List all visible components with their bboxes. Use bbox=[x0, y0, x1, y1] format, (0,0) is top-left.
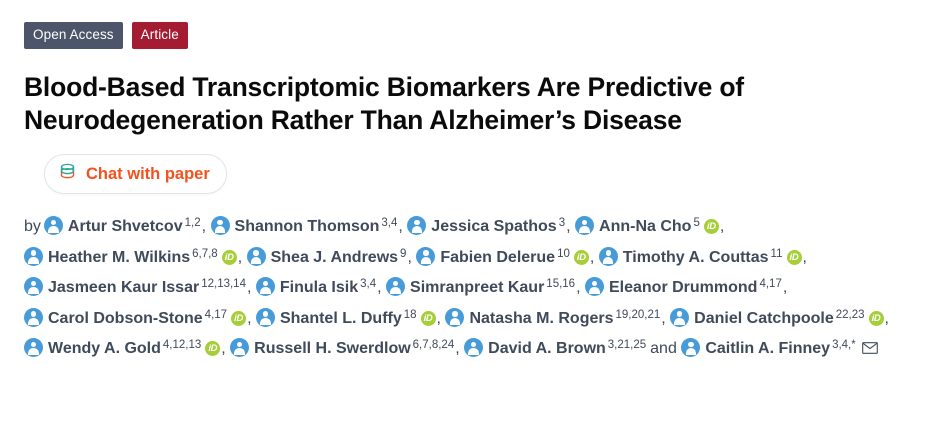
person-icon[interactable] bbox=[24, 338, 43, 357]
orcid-icon[interactable]: iD bbox=[421, 311, 436, 326]
article-header: Open Access Article Blood-Based Transcri… bbox=[0, 0, 940, 442]
author-separator: , bbox=[221, 340, 225, 357]
author-name[interactable]: Fabien Delerue bbox=[440, 249, 555, 266]
author-entry: Eleanor Drummond4,17 bbox=[585, 279, 782, 296]
author-entry: David A. Brown3,21,25 bbox=[464, 340, 646, 357]
author-separator: , bbox=[576, 279, 580, 296]
author-name[interactable]: Shea J. Andrews bbox=[271, 249, 398, 266]
person-icon[interactable] bbox=[670, 308, 689, 327]
author-separator: , bbox=[407, 249, 411, 266]
author-entry: Shea J. Andrews9 bbox=[247, 249, 407, 266]
author-entry: Ann-Na Cho5iD bbox=[575, 218, 719, 235]
author-affiliation[interactable]: 3,4 bbox=[360, 278, 376, 290]
author-separator: , bbox=[455, 340, 459, 357]
person-icon[interactable] bbox=[256, 277, 275, 296]
author-entry: Jessica Spathos3 bbox=[407, 218, 565, 235]
stacked-layers-icon bbox=[58, 162, 77, 186]
author-separator: , bbox=[661, 310, 665, 327]
chat-with-paper-button[interactable]: Chat with paper bbox=[44, 154, 227, 194]
author-entry: Timothy A. Couttas11iD bbox=[599, 249, 802, 266]
author-separator: , bbox=[398, 218, 402, 235]
author-entry: Wendy A. Gold4,12,13iD bbox=[24, 340, 220, 357]
author-name[interactable]: David A. Brown bbox=[488, 340, 606, 357]
author-name[interactable]: Ann-Na Cho bbox=[599, 218, 691, 235]
author-affiliation[interactable]: 10 bbox=[557, 248, 570, 260]
author-name[interactable]: Simranpreet Kaur bbox=[410, 279, 544, 296]
person-icon[interactable] bbox=[24, 308, 43, 327]
person-icon[interactable] bbox=[44, 216, 63, 235]
author-separator: , bbox=[202, 218, 206, 235]
person-icon[interactable] bbox=[256, 308, 275, 327]
author-name[interactable]: Eleanor Drummond bbox=[609, 279, 757, 296]
author-name[interactable]: Heather M. Wilkins bbox=[48, 249, 190, 266]
author-affiliation[interactable]: 4,12,13 bbox=[163, 339, 201, 351]
author-separator: , bbox=[566, 218, 570, 235]
author-entry: Daniel Catchpoole22,23iD bbox=[670, 310, 883, 327]
person-icon[interactable] bbox=[230, 338, 249, 357]
article-badge[interactable]: Article bbox=[132, 22, 188, 49]
author-affiliation[interactable]: 1,2 bbox=[185, 217, 201, 229]
author-separator: , bbox=[238, 249, 242, 266]
author-entry: Heather M. Wilkins6,7,8iD bbox=[24, 249, 237, 266]
author-affiliation[interactable]: 4,17 bbox=[205, 309, 227, 321]
orcid-icon[interactable]: iD bbox=[205, 341, 220, 356]
author-entry: Shantel L. Duffy18iD bbox=[256, 310, 436, 327]
open-access-badge[interactable]: Open Access bbox=[24, 22, 123, 49]
badge-row: Open Access Article bbox=[24, 22, 920, 49]
orcid-icon[interactable]: iD bbox=[222, 250, 237, 265]
author-name[interactable]: Natasha M. Rogers bbox=[469, 310, 613, 327]
author-entry: Fabien Delerue10iD bbox=[416, 249, 589, 266]
author-entry: Natasha M. Rogers19,20,21 bbox=[445, 310, 660, 327]
author-list: byArtur Shvetcov1,2, Shannon Thomson3,4,… bbox=[24, 210, 920, 364]
author-entry: Simranpreet Kaur15,16 bbox=[386, 279, 575, 296]
orcid-icon[interactable]: iD bbox=[574, 250, 589, 265]
author-affiliation[interactable]: 11 bbox=[771, 248, 783, 260]
person-icon[interactable] bbox=[416, 247, 435, 266]
author-name[interactable]: Jasmeen Kaur Issar bbox=[48, 279, 199, 296]
person-icon[interactable] bbox=[585, 277, 604, 296]
author-entry: Finula Isik3,4 bbox=[256, 279, 376, 296]
orcid-icon[interactable]: iD bbox=[231, 311, 246, 326]
page-title: Blood-Based Transcriptomic Biomarkers Ar… bbox=[24, 71, 904, 138]
person-icon[interactable] bbox=[247, 247, 266, 266]
author-separator: , bbox=[437, 310, 441, 327]
author-name[interactable]: Timothy A. Couttas bbox=[623, 249, 769, 266]
author-name[interactable]: Artur Shvetcov bbox=[68, 218, 183, 235]
author-affiliation[interactable]: 22,23 bbox=[836, 309, 865, 321]
person-icon[interactable] bbox=[407, 216, 426, 235]
person-icon[interactable] bbox=[211, 216, 230, 235]
person-icon[interactable] bbox=[24, 247, 43, 266]
author-entry: Russell H. Swerdlow6,7,8,24 bbox=[230, 340, 454, 357]
orcid-icon[interactable]: iD bbox=[704, 219, 719, 234]
author-affiliation[interactable]: 3,21,25 bbox=[608, 339, 646, 351]
author-entry: Carol Dobson-Stone4,17iD bbox=[24, 310, 246, 327]
person-icon[interactable] bbox=[575, 216, 594, 235]
author-entry: Shannon Thomson3,4 bbox=[211, 218, 398, 235]
email-icon[interactable] bbox=[862, 336, 878, 364]
author-separator: , bbox=[247, 279, 251, 296]
by-label: by bbox=[24, 218, 41, 235]
person-icon[interactable] bbox=[464, 338, 483, 357]
person-icon[interactable] bbox=[445, 308, 464, 327]
author-and-label: and bbox=[650, 340, 677, 357]
author-affiliation[interactable]: 4,17 bbox=[759, 278, 781, 290]
author-entry: Jasmeen Kaur Issar12,13,14 bbox=[24, 279, 246, 296]
author-name[interactable]: Wendy A. Gold bbox=[48, 340, 161, 357]
author-entry: Artur Shvetcov1,2 bbox=[44, 218, 201, 235]
author-name[interactable]: Finula Isik bbox=[280, 279, 358, 296]
author-separator: , bbox=[590, 249, 594, 266]
author-name[interactable]: Russell H. Swerdlow bbox=[254, 340, 410, 357]
author-entry: Caitlin A. Finney3,4,* bbox=[681, 340, 877, 357]
author-affiliation[interactable]: 6,7,8,24 bbox=[413, 339, 455, 351]
author-affiliation[interactable]: 3,4 bbox=[381, 217, 397, 229]
author-name[interactable]: Shannon Thomson bbox=[235, 218, 380, 235]
orcid-icon[interactable]: iD bbox=[869, 311, 884, 326]
author-name[interactable]: Daniel Catchpoole bbox=[694, 310, 834, 327]
author-separator: , bbox=[377, 279, 381, 296]
author-affiliation[interactable]: 3 bbox=[559, 217, 565, 229]
author-affiliation[interactable]: 18 bbox=[404, 309, 417, 321]
chat-with-paper-label: Chat with paper bbox=[86, 166, 210, 183]
author-affiliation[interactable]: 12,13,14 bbox=[201, 278, 246, 290]
author-name[interactable]: Jessica Spathos bbox=[431, 218, 556, 235]
person-icon[interactable] bbox=[386, 277, 405, 296]
author-affiliation[interactable]: 15,16 bbox=[546, 278, 575, 290]
author-separator: , bbox=[247, 310, 251, 327]
author-name[interactable]: Shantel L. Duffy bbox=[280, 310, 402, 327]
person-icon[interactable] bbox=[24, 277, 43, 296]
person-icon[interactable] bbox=[599, 247, 618, 266]
author-affiliation[interactable]: 9 bbox=[400, 248, 406, 260]
author-separator: , bbox=[885, 310, 889, 327]
author-separator: , bbox=[720, 218, 724, 235]
author-separator: , bbox=[783, 279, 787, 296]
author-name[interactable]: Carol Dobson-Stone bbox=[48, 310, 203, 327]
author-name[interactable]: Caitlin A. Finney bbox=[705, 340, 830, 357]
author-affiliation[interactable]: 19,20,21 bbox=[616, 309, 661, 321]
person-icon[interactable] bbox=[681, 338, 700, 357]
author-affiliation[interactable]: 3,4,* bbox=[832, 339, 856, 351]
author-separator: , bbox=[803, 249, 807, 266]
author-affiliation[interactable]: 5 bbox=[693, 217, 699, 229]
orcid-icon[interactable]: iD bbox=[787, 250, 802, 265]
author-affiliation[interactable]: 6,7,8 bbox=[192, 248, 218, 260]
